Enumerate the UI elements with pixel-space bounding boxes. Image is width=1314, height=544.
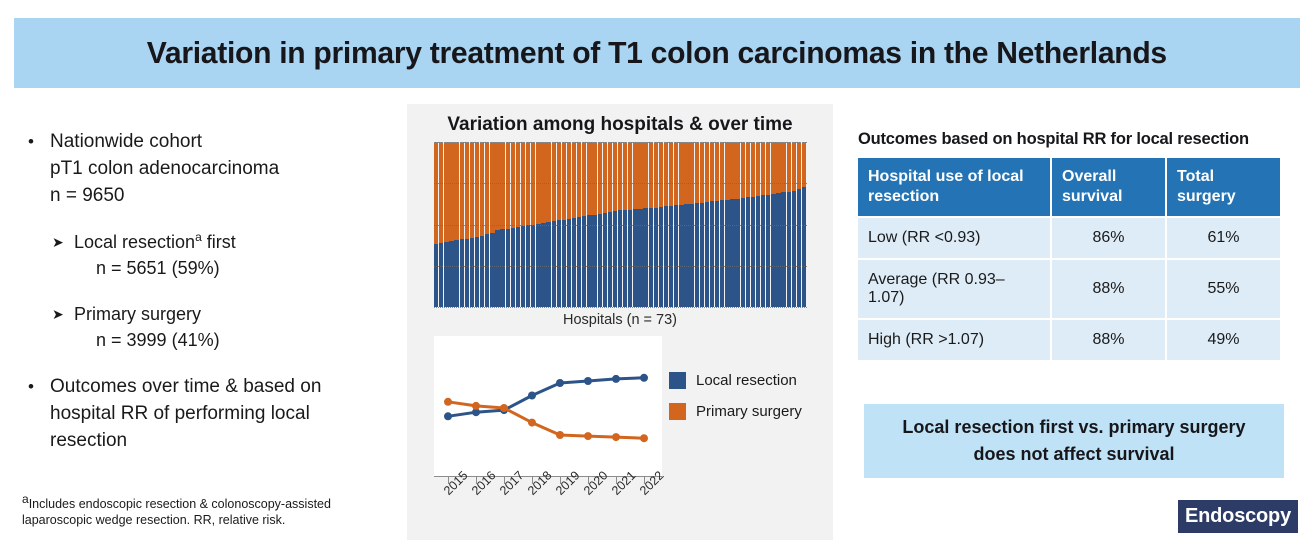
bar-segment-local-resection xyxy=(506,229,510,307)
bar-segment-primary-surgery xyxy=(756,142,760,196)
bar-segment-primary-surgery xyxy=(797,142,801,189)
bar-segment-local-resection xyxy=(720,200,724,307)
cohort-description: Nationwide cohort pT1 colon adenocarcino… xyxy=(50,128,279,209)
outcomes-line-2: hospital RR of performing local xyxy=(50,400,321,427)
bar-segment-local-resection xyxy=(557,220,561,307)
bar-segment-primary-surgery xyxy=(587,142,591,215)
bar-segment-primary-surgery xyxy=(511,142,515,228)
bar-segment-local-resection xyxy=(546,222,550,307)
bar-segment-primary-surgery xyxy=(546,142,550,222)
data-point xyxy=(444,412,452,420)
spacer xyxy=(28,355,396,373)
outcomes-line-3: resection xyxy=(50,427,321,454)
bar-segment-primary-surgery xyxy=(664,142,668,206)
bar-segment-primary-surgery xyxy=(449,142,453,241)
footnote-marker: a xyxy=(195,230,202,244)
bar-segment-primary-surgery xyxy=(633,142,637,209)
bar-chart-xlabel: Hospitals (n = 73) xyxy=(407,312,833,328)
bar-segment-primary-surgery xyxy=(654,142,658,208)
bar-segment-local-resection xyxy=(465,239,469,307)
bar-segment-primary-surgery xyxy=(771,142,775,194)
bar-segment-primary-surgery xyxy=(567,142,571,219)
cohort-line-2: pT1 colon adenocarcinoma xyxy=(50,155,279,182)
data-point xyxy=(528,419,536,427)
bar-segment-primary-surgery xyxy=(781,142,785,192)
page-title-band: Variation in primary treatment of T1 col… xyxy=(14,18,1300,88)
bar-segment-primary-surgery xyxy=(700,142,704,203)
data-point xyxy=(584,377,592,385)
bar-segment-local-resection xyxy=(781,192,785,307)
x-axis-line xyxy=(434,307,807,308)
bar-segment-local-resection xyxy=(552,221,556,307)
bar-segment-primary-surgery xyxy=(643,142,647,208)
bar-segment-primary-surgery xyxy=(751,142,755,197)
list-item: • Outcomes over time & based on hospital… xyxy=(28,373,396,454)
summary-list: • Nationwide cohort pT1 colon adenocarci… xyxy=(28,128,396,456)
data-point xyxy=(584,432,592,440)
bar-segment-primary-surgery xyxy=(552,142,556,221)
bar-segment-primary-surgery xyxy=(470,142,474,238)
page-title: Variation in primary treatment of T1 col… xyxy=(147,35,1167,71)
line-chart-svg xyxy=(434,336,662,476)
bar-segment-local-resection xyxy=(751,197,755,307)
cohort-line-3: n = 9650 xyxy=(50,182,279,209)
local-resection-count: n = 5651 (59%) xyxy=(96,255,236,281)
bar-segment-local-resection xyxy=(787,192,791,308)
data-point xyxy=(444,398,452,406)
bar-segment-primary-surgery xyxy=(669,142,673,206)
legend-label-local-resection: Local resection xyxy=(696,372,797,389)
bar-segment-local-resection xyxy=(679,205,683,307)
bar-segment-local-resection xyxy=(490,233,494,307)
bar-segment-local-resection xyxy=(776,193,780,307)
column-header-overall-survival: Overall survival xyxy=(1052,158,1165,216)
bar-segment-local-resection xyxy=(454,240,458,307)
outcomes-panel: Outcomes based on hospital RR for local … xyxy=(858,130,1288,362)
bar-segment-local-resection xyxy=(598,214,602,307)
footnote-line-2: laparoscopic wedge resection. RR, relati… xyxy=(22,512,382,528)
bar-segment-local-resection xyxy=(511,228,515,307)
bar-segment-local-resection xyxy=(741,198,745,307)
cell-group: Average (RR 0.93–1.07) xyxy=(858,260,1050,318)
footnote-text-1: Includes endoscopic resection & colonosc… xyxy=(29,497,331,511)
cell-group: Low (RR <0.93) xyxy=(858,218,1050,258)
bar-segment-primary-surgery xyxy=(761,142,765,195)
bar-segment-local-resection xyxy=(792,191,796,307)
bar-segment-local-resection xyxy=(577,217,581,307)
bar-segment-primary-surgery xyxy=(659,142,663,207)
arrow-bullet-icon: ➤ xyxy=(52,229,74,281)
bar-segment-local-resection xyxy=(797,189,801,307)
bar-segment-primary-surgery xyxy=(506,142,510,229)
column-header-group: Hospital use of local resection xyxy=(858,158,1050,216)
gridline-75 xyxy=(434,183,807,184)
bar-segment-primary-surgery xyxy=(562,142,566,220)
bar-segment-local-resection xyxy=(500,229,504,307)
bar-segment-local-resection xyxy=(705,202,709,307)
bar-segment-local-resection xyxy=(516,227,520,307)
bar-segment-primary-surgery xyxy=(725,142,729,200)
bar-segment-local-resection xyxy=(654,208,658,307)
bar-segment-local-resection xyxy=(572,218,576,307)
outcomes-description: Outcomes over time & based on hospital R… xyxy=(50,373,321,454)
endoscopy-logo-text: Endoscopy xyxy=(1185,505,1291,528)
bar-segment-primary-surgery xyxy=(557,142,561,220)
local-resection-label: Local resectiona first xyxy=(74,229,236,255)
bar-segment-primary-surgery xyxy=(480,142,484,236)
bar-segment-primary-surgery xyxy=(705,142,709,202)
bar-segment-primary-surgery xyxy=(679,142,683,205)
x-axis-tick-labels: 20152016201720182019202020212022 xyxy=(421,482,681,542)
footnote: aIncludes endoscopic resection & colonos… xyxy=(22,496,382,528)
gridline-50 xyxy=(434,225,807,226)
bar-segment-primary-surgery xyxy=(623,142,627,210)
bar-segment-local-resection xyxy=(802,187,806,307)
legend-swatch-primary-surgery xyxy=(669,403,686,420)
bar-segment-primary-surgery xyxy=(649,142,653,208)
cell-total-surgery: 55% xyxy=(1167,260,1280,318)
gridline-25 xyxy=(434,266,807,267)
bar-segment-primary-surgery xyxy=(720,142,724,200)
list-item: ➤ Primary surgery n = 3999 (41%) xyxy=(52,301,396,353)
top-axis-line xyxy=(434,142,807,143)
bar-segment-local-resection xyxy=(613,211,617,307)
primary-surgery-label: Primary surgery xyxy=(74,301,220,327)
sub-list-primary-surgery: ➤ Primary surgery n = 3999 (41%) xyxy=(52,301,396,353)
column-header-total-surgery: Total surgery xyxy=(1167,158,1280,216)
bar-segment-local-resection xyxy=(582,216,586,307)
data-point xyxy=(500,404,508,412)
bar-segment-local-resection xyxy=(761,195,765,307)
data-point xyxy=(640,374,648,382)
bar-segment-primary-surgery xyxy=(730,142,734,199)
bar-segment-local-resection xyxy=(684,204,688,307)
bar-segment-primary-surgery xyxy=(735,142,739,199)
data-point xyxy=(556,431,564,439)
bar-segment-local-resection xyxy=(649,208,653,307)
bar-segment-local-resection xyxy=(470,238,474,307)
table-body: Low (RR <0.93)86%61%Average (RR 0.93–1.0… xyxy=(858,218,1280,360)
legend-swatch-local-resection xyxy=(669,372,686,389)
bar-segment-primary-surgery xyxy=(695,142,699,203)
local-resection-text: Local resection xyxy=(74,232,195,252)
bar-segment-local-resection xyxy=(664,206,668,307)
bar-segment-local-resection xyxy=(766,195,770,307)
bar-segment-local-resection xyxy=(659,207,663,307)
bar-segment-primary-surgery xyxy=(495,142,499,230)
outcomes-line-1: Outcomes over time & based on xyxy=(50,373,321,400)
outcomes-table: Hospital use of local resection Overall … xyxy=(856,156,1282,362)
bar-segment-local-resection xyxy=(480,236,484,307)
bar-segment-primary-surgery xyxy=(715,142,719,201)
bar-segment-primary-surgery xyxy=(592,142,596,215)
outcomes-panel-title: Outcomes based on hospital RR for local … xyxy=(858,130,1288,149)
bar-segment-primary-surgery xyxy=(766,142,770,195)
bar-segment-primary-surgery xyxy=(741,142,745,198)
bullet-icon: • xyxy=(28,128,50,209)
bar-segment-primary-surgery xyxy=(577,142,581,217)
cell-overall-survival: 86% xyxy=(1052,218,1165,258)
sub-list-local-resection: ➤ Local resectiona first n = 5651 (59%) xyxy=(52,229,396,281)
center-panel: Variation among hospitals & over time Ho… xyxy=(407,104,833,540)
bar-segment-local-resection xyxy=(746,197,750,307)
bar-segment-local-resection xyxy=(587,215,591,307)
bar-segment-primary-surgery xyxy=(684,142,688,204)
bar-segment-local-resection xyxy=(725,200,729,307)
bar-segment-local-resection xyxy=(485,234,489,307)
list-item: ➤ Local resectiona first n = 5651 (59%) xyxy=(52,229,396,281)
local-resection-tail: first xyxy=(202,232,236,252)
data-point xyxy=(640,434,648,442)
cohort-line-1: Nationwide cohort xyxy=(50,128,279,155)
bar-segment-primary-surgery xyxy=(434,142,438,244)
table-header: Hospital use of local resection Overall … xyxy=(858,158,1280,216)
legend-label-primary-surgery: Primary surgery xyxy=(696,403,802,420)
bar-segment-local-resection xyxy=(643,208,647,307)
bar-segment-local-resection xyxy=(669,206,673,307)
bar-segment-primary-surgery xyxy=(603,142,607,213)
endoscopy-logo: Endoscopy xyxy=(1178,500,1298,533)
table-row: Average (RR 0.93–1.07)88%55% xyxy=(858,260,1280,318)
cell-group: High (RR >1.07) xyxy=(858,320,1050,360)
bar-segment-primary-surgery xyxy=(444,142,448,242)
bar-segment-primary-surgery xyxy=(776,142,780,193)
bar-segment-primary-surgery xyxy=(475,142,479,237)
data-point xyxy=(612,433,620,441)
bar-segment-primary-surgery xyxy=(582,142,586,216)
bar-segment-primary-surgery xyxy=(618,142,622,210)
bar-segment-local-resection xyxy=(603,213,607,307)
bar-segment-local-resection xyxy=(695,203,699,307)
data-point xyxy=(472,402,480,410)
data-point xyxy=(556,379,564,387)
center-panel-title: Variation among hospitals & over time xyxy=(407,114,833,136)
bar-segment-primary-surgery xyxy=(638,142,642,209)
bar-segment-primary-surgery xyxy=(608,142,612,212)
bar-segment-local-resection xyxy=(460,239,464,307)
bar-segment-local-resection xyxy=(562,220,566,307)
bar-segment-primary-surgery xyxy=(598,142,602,214)
footnote-line-1: aIncludes endoscopic resection & colonos… xyxy=(22,496,382,512)
list-item: • Nationwide cohort pT1 colon adenocarci… xyxy=(28,128,396,209)
bar-segment-local-resection xyxy=(730,199,734,307)
bar-segment-primary-surgery xyxy=(802,142,806,187)
graphical-abstract: Variation in primary treatment of T1 col… xyxy=(0,0,1314,544)
table-row: High (RR >1.07)88%49% xyxy=(858,320,1280,360)
bar-segment-local-resection xyxy=(592,215,596,307)
bar-segment-local-resection xyxy=(689,204,693,307)
bar-segment-local-resection xyxy=(449,241,453,307)
footnote-marker: a xyxy=(22,492,29,506)
conclusion-line-2: does not affect survival xyxy=(973,441,1174,468)
data-point xyxy=(612,375,620,383)
cell-overall-survival: 88% xyxy=(1052,320,1165,360)
table-row: Low (RR <0.93)86%61% xyxy=(858,218,1280,258)
conclusion-line-1: Local resection first vs. primary surger… xyxy=(902,414,1245,441)
bar-segment-primary-surgery xyxy=(439,142,443,243)
bar-segment-local-resection xyxy=(439,243,443,307)
data-point xyxy=(528,392,536,400)
bar-segment-primary-surgery xyxy=(628,142,632,210)
bar-segment-primary-surgery xyxy=(746,142,750,197)
bar-segment-local-resection xyxy=(715,201,719,307)
cell-total-surgery: 49% xyxy=(1167,320,1280,360)
bar-segment-local-resection xyxy=(495,230,499,307)
cell-total-surgery: 61% xyxy=(1167,218,1280,258)
bar-segment-local-resection xyxy=(674,205,678,307)
bar-segment-local-resection xyxy=(608,212,612,307)
bar-segment-primary-surgery xyxy=(674,142,678,205)
arrow-bullet-icon: ➤ xyxy=(52,301,74,353)
legend-item-primary-surgery: Primary surgery xyxy=(669,403,829,420)
cell-overall-survival: 88% xyxy=(1052,260,1165,318)
conclusion-box: Local resection first vs. primary surger… xyxy=(864,404,1284,478)
bar-segment-primary-surgery xyxy=(572,142,576,218)
bar-segment-local-resection xyxy=(475,237,479,307)
bar-segment-local-resection xyxy=(567,219,571,307)
bar-segment-local-resection xyxy=(700,203,704,307)
chart-legend: Local resection Primary surgery xyxy=(669,372,829,434)
bar-segment-primary-surgery xyxy=(689,142,693,204)
bar-segment-local-resection xyxy=(710,201,714,307)
bar-segment-primary-surgery xyxy=(613,142,617,211)
bar-segment-primary-surgery xyxy=(500,142,504,229)
bullet-icon: • xyxy=(28,373,50,454)
legend-item-local-resection: Local resection xyxy=(669,372,829,389)
bar-segment-primary-surgery xyxy=(485,142,489,234)
bar-segment-local-resection xyxy=(735,199,739,307)
stacked-bar-chart xyxy=(434,142,807,307)
bar-segment-primary-surgery xyxy=(490,142,494,233)
bar-segment-primary-surgery xyxy=(710,142,714,201)
trend-line-chart xyxy=(434,336,662,476)
bar-segment-local-resection xyxy=(434,244,438,307)
table-header-row: Hospital use of local resection Overall … xyxy=(858,158,1280,216)
bar-segment-primary-surgery xyxy=(516,142,520,227)
primary-surgery-count: n = 3999 (41%) xyxy=(96,327,220,353)
bar-segment-local-resection xyxy=(444,242,448,307)
bar-segment-local-resection xyxy=(756,196,760,307)
bar-segment-local-resection xyxy=(771,194,775,307)
